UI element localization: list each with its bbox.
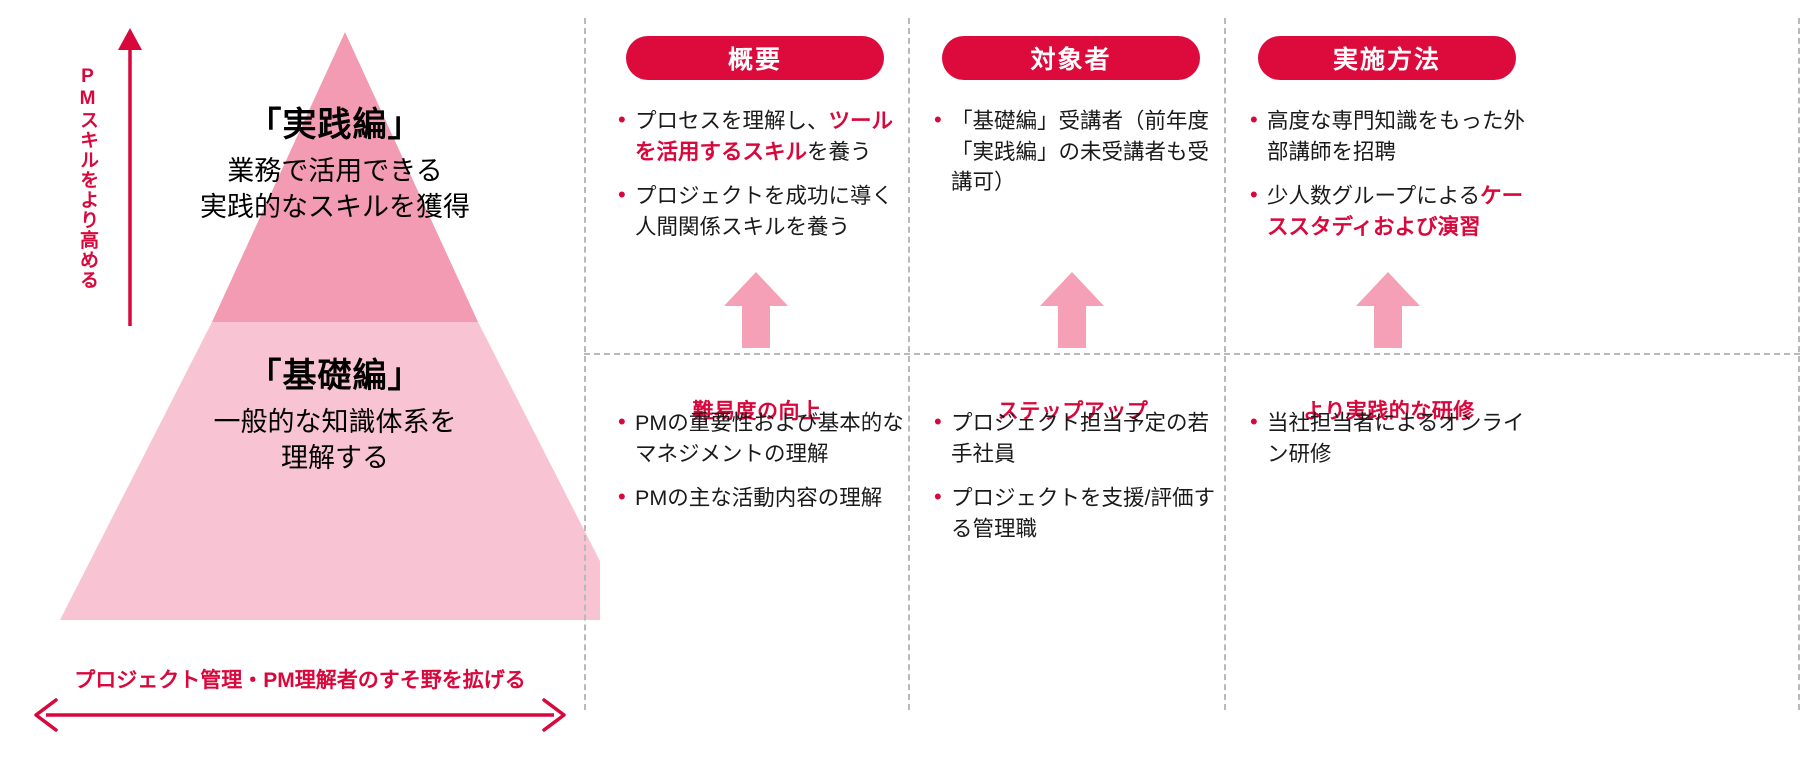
horizontal-double-arrow-icon	[30, 694, 570, 736]
diagram-root: PMスキルをより高める 「実践編」 業務で活用できる 実践的なスキルを獲得 「基…	[0, 0, 1800, 758]
plain-text: PMの主な活動内容の理解	[635, 486, 882, 510]
plain-text: 「基礎編」受講者（前年度「実践編」の未受講者も受講可）	[951, 109, 1209, 194]
pyramid-tier-advanced-text: 「実践編」 業務で活用できる 実践的なスキルを獲得	[120, 104, 550, 225]
list-item: •当社担当者によるオンライン研修	[1250, 408, 1540, 469]
up-arrow-icon	[1040, 272, 1104, 348]
delivery-advanced-bullets: •高度な専門知識をもった外部講師を招聘•少人数グループによるケーススタディおよび…	[1250, 106, 1540, 256]
up-arrow-icon	[1356, 272, 1420, 348]
plain-text: プロセスを理解し、	[635, 109, 829, 133]
pyramid-tier-basic-text: 「基礎編」 一般的な知識体系を 理解する	[120, 355, 550, 476]
plain-text: プロジェクトを成功に導く人間関係スキルを養う	[635, 184, 893, 239]
tier-advanced-title: 「実践編」	[120, 104, 550, 147]
tier-advanced-subtitle-line-2: 実践的なスキルを獲得	[120, 189, 550, 225]
list-item-text: 「基礎編」受講者（前年度「実践編」の未受講者も受講可）	[951, 106, 1224, 198]
bullet-dot-icon: •	[618, 407, 635, 437]
list-item-text: PMの重要性および基本的なマネジメントの理解	[635, 408, 908, 469]
list-item-text: プロジェクトを成功に導く人間関係スキルを養う	[635, 181, 908, 242]
list-item: •プロジェクト担当予定の若手社員	[934, 408, 1224, 469]
column-header-target-audience[interactable]: 対象者	[942, 36, 1200, 80]
pyramid-panel: PMスキルをより高める 「実践編」 業務で活用できる 実践的なスキルを獲得 「基…	[0, 0, 600, 758]
up-arrow-icon	[724, 272, 788, 348]
plain-text: 少人数グループによる	[1267, 184, 1480, 208]
column-divider-0	[584, 18, 586, 710]
bullet-dot-icon: •	[618, 180, 635, 210]
bullet-dot-icon: •	[618, 105, 635, 135]
column-header-overview[interactable]: 概要	[626, 36, 884, 80]
plain-text: 高度な専門知識をもった外部講師を招聘	[1267, 109, 1525, 164]
pyramid-base-label: プロジェクト管理・PM理解者のすそ野を拡げる	[30, 664, 570, 694]
list-item-text: 高度な専門知識をもった外部講師を招聘	[1267, 106, 1540, 167]
list-item-text: プロジェクトを支援/評価する管理職	[951, 483, 1224, 544]
bullet-dot-icon: •	[934, 105, 951, 135]
list-item: •PMの主な活動内容の理解	[618, 483, 908, 514]
bullet-dot-icon: •	[1250, 105, 1267, 135]
delivery-basic-bullets: •当社担当者によるオンライン研修	[1250, 408, 1540, 483]
column-header-delivery-method[interactable]: 実施方法	[1258, 36, 1516, 80]
tier-basic-subtitle-line-1: 一般的な知識体系を	[120, 404, 550, 440]
column-delivery-method: 実施方法 •高度な専門知識をもった外部講師を招聘•少人数グループによるケーススタ…	[1236, 0, 1542, 758]
tier-basic-subtitle-line-2: 理解する	[120, 440, 550, 476]
tier-advanced-subtitle-line-1: 業務で活用できる	[120, 153, 550, 189]
list-item-text: プロセスを理解し、ツールを活用するスキルを養う	[635, 106, 908, 167]
overview-basic-bullets: •PMの重要性および基本的なマネジメントの理解•PMの主な活動内容の理解	[618, 408, 908, 528]
bullet-dot-icon: •	[1250, 407, 1267, 437]
column-target-audience: 対象者 •「基礎編」受講者（前年度「実践編」の未受講者も受講可） ステップアップ…	[920, 0, 1226, 758]
list-item-text: 少人数グループによるケーススタディおよび演習	[1267, 181, 1540, 242]
bullet-dot-icon: •	[934, 482, 951, 512]
plain-text: 当社担当者によるオンライン研修	[1267, 411, 1524, 466]
bullet-dot-icon: •	[618, 482, 635, 512]
target-basic-bullets: •プロジェクト担当予定の若手社員•プロジェクトを支援/評価する管理職	[934, 408, 1224, 558]
list-item: •プロジェクトを成功に導く人間関係スキルを養う	[618, 181, 908, 242]
list-item-text: プロジェクト担当予定の若手社員	[951, 408, 1224, 469]
plain-text: プロジェクト担当予定の若手社員	[951, 411, 1209, 466]
plain-text: PMの重要性および基本的なマネジメントの理解	[635, 411, 904, 466]
list-item-text: 当社担当者によるオンライン研修	[1267, 408, 1540, 469]
plain-text: プロジェクトを支援/評価する管理職	[951, 486, 1215, 541]
list-item-text: PMの主な活動内容の理解	[635, 483, 908, 514]
column-overview: 概要 •プロセスを理解し、ツールを活用するスキルを養う•プロジェクトを成功に導く…	[604, 0, 910, 758]
columns-panel: 概要 •プロセスを理解し、ツールを活用するスキルを養う•プロジェクトを成功に導く…	[584, 0, 1800, 758]
list-item: •高度な専門知識をもった外部講師を招聘	[1250, 106, 1540, 167]
bullet-dot-icon: •	[1250, 180, 1267, 210]
list-item: •プロセスを理解し、ツールを活用するスキルを養う	[618, 106, 908, 167]
target-advanced-bullets: •「基礎編」受講者（前年度「実践編」の未受講者も受講可）	[934, 106, 1224, 212]
list-item: •プロジェクトを支援/評価する管理職	[934, 483, 1224, 544]
bullet-dot-icon: •	[934, 407, 951, 437]
plain-text: を養う	[807, 140, 872, 164]
tier-basic-title: 「基礎編」	[120, 355, 550, 398]
list-item: •「基礎編」受講者（前年度「実践編」の未受講者も受講可）	[934, 106, 1224, 198]
overview-advanced-bullets: •プロセスを理解し、ツールを活用するスキルを養う•プロジェクトを成功に導く人間関…	[618, 106, 908, 256]
list-item: •PMの重要性および基本的なマネジメントの理解	[618, 408, 908, 469]
list-item: •少人数グループによるケーススタディおよび演習	[1250, 181, 1540, 242]
